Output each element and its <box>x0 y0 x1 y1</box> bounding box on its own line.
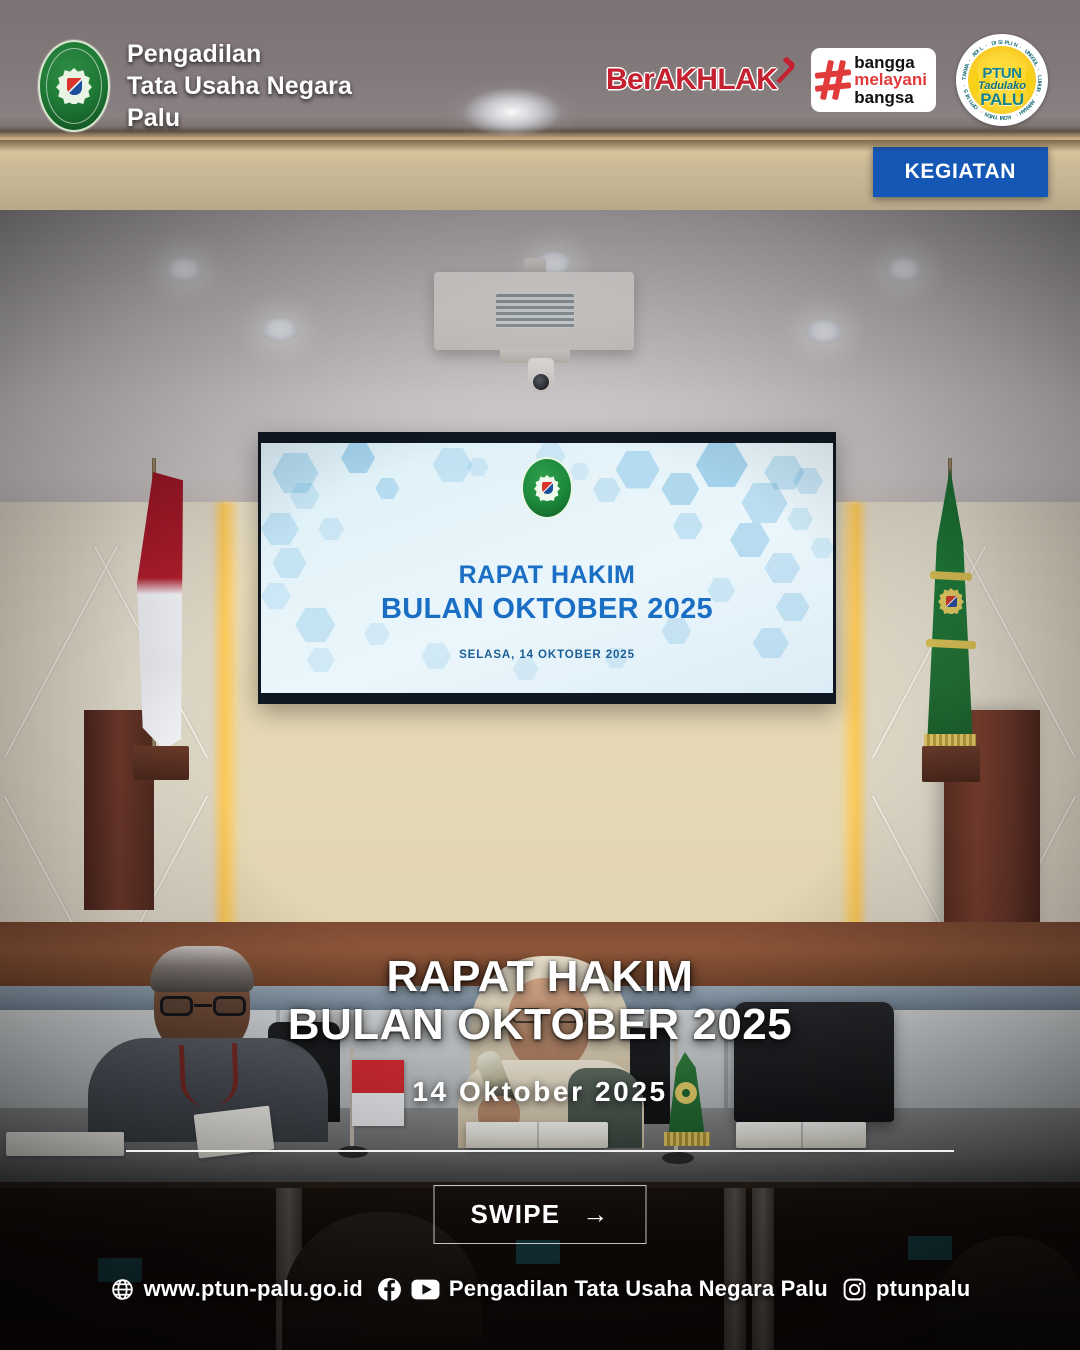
text-overlay: RAPAT HAKIM BULAN OKTOBER 2025 14 Oktobe… <box>0 0 1080 1350</box>
instagram-group[interactable]: ptunpalu <box>842 1276 970 1302</box>
footer-bar: www.ptun-palu.go.id Pengadilan Tata Usah… <box>0 1276 1080 1302</box>
divider-line <box>126 1150 954 1152</box>
social-group[interactable]: Pengadilan Tata Usaha Negara Palu <box>377 1276 828 1302</box>
swipe-label: SWIPE <box>471 1199 561 1230</box>
social-media-poster: Pengadilan Tata Usaha Negara Palu BerAKH… <box>0 0 1080 1350</box>
website-group[interactable]: www.ptun-palu.go.id <box>110 1276 363 1302</box>
globe-icon <box>110 1277 135 1302</box>
arrow-right-icon: → <box>582 1199 609 1230</box>
instagram-icon <box>842 1277 867 1302</box>
website-url: www.ptun-palu.go.id <box>144 1276 363 1302</box>
overlay-date: 14 Oktober 2025 <box>0 1076 1080 1108</box>
social-account-name: Pengadilan Tata Usaha Negara Palu <box>449 1276 828 1302</box>
instagram-handle: ptunpalu <box>876 1276 970 1302</box>
overlay-title-line-2: BULAN OKTOBER 2025 <box>0 1000 1080 1050</box>
overlay-title-line-1: RAPAT HAKIM <box>0 952 1080 1002</box>
youtube-icon <box>411 1277 440 1302</box>
facebook-icon <box>377 1277 402 1302</box>
swipe-button[interactable]: SWIPE → <box>434 1185 647 1244</box>
